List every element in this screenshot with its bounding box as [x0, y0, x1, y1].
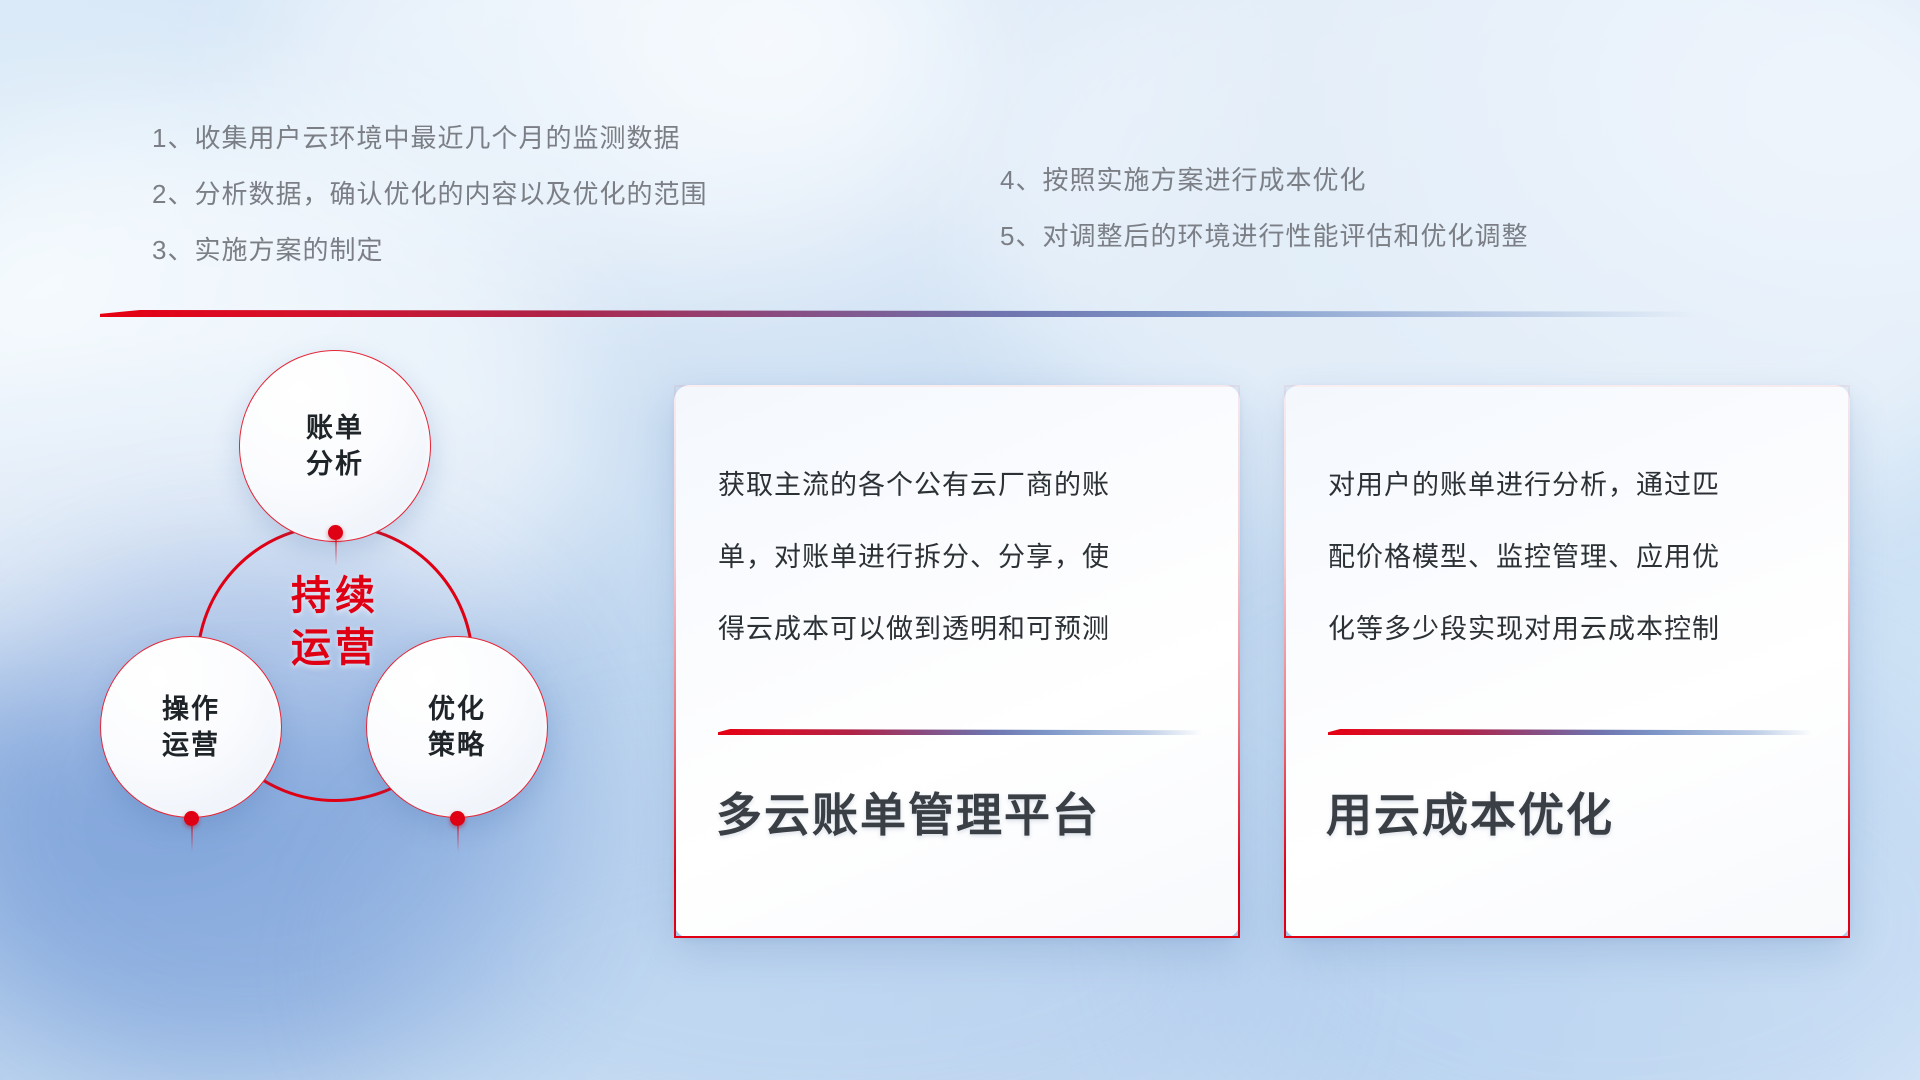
node-label-line-1: 操作 — [162, 691, 220, 727]
card-multi-cloud-billing-platform[interactable]: 获取主流的各个公有云厂商的账 单，对账单进行拆分、分享，使 得云成本可以做到透明… — [674, 385, 1240, 938]
card-body-line-3: 得云成本可以做到透明和可预测 — [718, 593, 1196, 665]
node-label-line-2: 运营 — [162, 727, 220, 763]
node-dot-top-icon — [328, 525, 343, 540]
header-divider — [100, 310, 1700, 317]
node-label-line-1: 优化 — [428, 691, 486, 727]
card-divider — [1328, 729, 1812, 735]
node-tail-top-icon — [335, 540, 337, 566]
card-title: 用云成本优化 — [1326, 779, 1614, 845]
node-dot-left-icon — [184, 811, 199, 826]
step-item-3: 3、实施方案的制定 — [152, 222, 707, 278]
diagram-node-operations[interactable]: 操作 运营 — [100, 636, 282, 818]
card-title: 多云账单管理平台 — [716, 779, 1100, 845]
card-body-line-1: 获取主流的各个公有云厂商的账 — [718, 449, 1196, 521]
step-item-5: 5、对调整后的环境进行性能评估和优化调整 — [1000, 208, 1528, 264]
card-body-line-2: 单，对账单进行拆分、分享，使 — [718, 521, 1196, 593]
card-body-line-3: 化等多少段实现对用云成本控制 — [1328, 593, 1806, 665]
slide-canvas: 1、收集用户云环境中最近几个月的监测数据 2、分析数据，确认优化的内容以及优化的… — [0, 0, 1920, 1080]
steps-list-left: 1、收集用户云环境中最近几个月的监测数据 2、分析数据，确认优化的内容以及优化的… — [152, 110, 707, 278]
card-body-text: 对用户的账单进行分析，通过匹 配价格模型、监控管理、应用优 化等多少段实现对用云… — [1328, 449, 1806, 665]
node-label-line-1: 账单 — [306, 410, 364, 446]
node-dot-right-icon — [450, 811, 465, 826]
step-item-2: 2、分析数据，确认优化的内容以及优化的范围 — [152, 166, 707, 222]
node-tail-left-icon — [191, 826, 193, 852]
card-cloud-cost-optimization[interactable]: 对用户的账单进行分析，通过匹 配价格模型、监控管理、应用优 化等多少段实现对用云… — [1284, 385, 1850, 938]
step-item-1: 1、收集用户云环境中最近几个月的监测数据 — [152, 110, 707, 166]
steps-list-right: 4、按照实施方案进行成本优化 5、对调整后的环境进行性能评估和优化调整 — [1000, 152, 1528, 264]
card-divider — [718, 729, 1202, 735]
card-body-line-2: 配价格模型、监控管理、应用优 — [1328, 521, 1806, 593]
diagram-node-optimization-policy[interactable]: 优化 策略 — [366, 636, 548, 818]
diagram-node-billing-analysis[interactable]: 账单 分析 — [239, 350, 431, 542]
card-body-text: 获取主流的各个公有云厂商的账 单，对账单进行拆分、分享，使 得云成本可以做到透明… — [718, 449, 1196, 665]
continuous-operations-diagram: 持续 运营 账单 分析 操作 运营 优化 策略 — [100, 350, 580, 940]
node-label-line-2: 分析 — [306, 446, 364, 482]
node-tail-right-icon — [457, 826, 459, 852]
step-item-4: 4、按照实施方案进行成本优化 — [1000, 152, 1528, 208]
card-body-line-1: 对用户的账单进行分析，通过匹 — [1328, 449, 1806, 521]
node-label-line-2: 策略 — [428, 727, 486, 763]
center-label-line-1: 持续 — [240, 570, 430, 622]
